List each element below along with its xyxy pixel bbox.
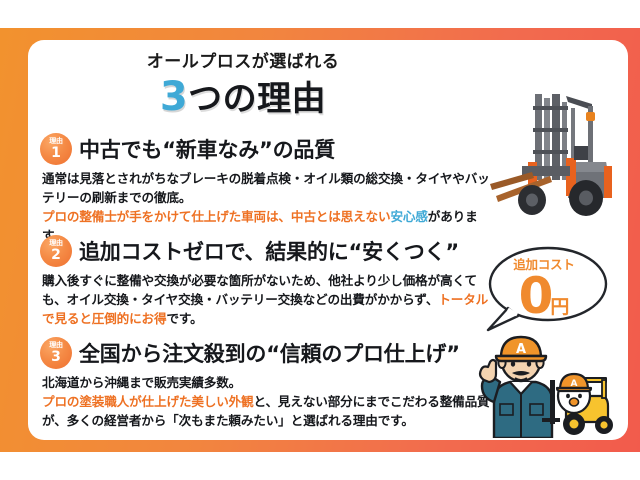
reason-1-body-seg-0: 通常は見落とされがちなブレーキの脱着点検・オイル類の総交換・タイヤやバッテリーの… <box>42 171 490 205</box>
reason-2-title: 追加コストゼロで、結果的に“安くつく” <box>79 236 459 266</box>
badge-number: 3 <box>51 350 61 364</box>
reason-1-header: 理由 1 中古でも“新車なみ”の品質 <box>40 132 490 166</box>
headline-number: 3 <box>160 74 188 120</box>
mechanic-and-forklift-mascot: A A <box>474 326 624 438</box>
reason-3-body: 北海道から沖縄まで販売実績多数。 プロの塗装職人が仕上げた美しい外観と、見えない… <box>42 373 490 430</box>
reason-3-title: 全国から注文殺到の“信頼のプロ仕上げ” <box>79 338 460 368</box>
bubble-shape <box>484 242 618 336</box>
reason-2-body-seg-0: 購入後すぐに整備や交換が必要な箇所がないため、他社より少し価格が高くても、オイル… <box>42 273 477 307</box>
reason-3-badge: 理由 3 <box>40 337 72 369</box>
reason-1-body-seg-1: プロの整備士が手をかけて仕上げた車両は、 <box>42 209 291 224</box>
badge-label: 理由 <box>49 138 62 145</box>
callout-bubble: 追加コスト 0円 <box>484 242 618 336</box>
mascot-helmet-letter-a: A <box>571 379 578 389</box>
reason-2-badge: 理由 2 <box>40 235 72 267</box>
reason-1-body-seg-2: 中古とは思えない <box>291 209 391 224</box>
reason-1-title: 中古でも“新車なみ”の品質 <box>79 134 335 164</box>
reason-block-2: 理由 2 追加コストゼロで、結果的に“安くつく” 購入後すぐに整備や交換が必要な… <box>40 234 490 328</box>
helmet-letter-a: A <box>516 342 526 357</box>
reason-2-header: 理由 2 追加コストゼロで、結果的に“安くつく” <box>40 234 490 268</box>
reason-1-badge: 理由 1 <box>40 133 72 165</box>
white-content-card: オールプロスが選ばれる 3つの理由 理由 1 中古でも“新車なみ”の品質 通常は… <box>28 40 628 440</box>
reason-2-body: 購入後すぐに整備や交換が必要な箇所がないため、他社より少し価格が高くても、オイル… <box>42 271 490 328</box>
reason-1-body-seg-3: 安心感 <box>390 209 427 224</box>
reason-2-body-seg-2: です。 <box>166 311 202 326</box>
headline-main: 3つの理由 <box>28 76 458 118</box>
reason-3-body-seg-1: プロの塗装職人が仕上げた美しい外観 <box>42 394 254 409</box>
headline-suffix: つの理由 <box>188 79 326 119</box>
badge-label: 理由 <box>49 240 62 247</box>
reason-3-header: 理由 3 全国から注文殺到の“信頼のプロ仕上げ” <box>40 336 490 370</box>
reason-block-1: 理由 1 中古でも“新車なみ”の品質 通常は見落とされがちなブレーキの脱着点検・… <box>40 132 490 246</box>
headline-kicker: オールプロスが選ばれる <box>28 52 458 72</box>
reason-3-body-seg-0: 北海道から沖縄まで販売実績多数。 <box>42 375 241 390</box>
badge-label: 理由 <box>49 342 62 349</box>
promotional-poster: オールプロスが選ばれる 3つの理由 理由 1 中古でも“新車なみ”の品質 通常は… <box>0 0 640 480</box>
forklift-photo <box>488 88 620 228</box>
page-title: オールプロスが選ばれる 3つの理由 <box>28 52 458 118</box>
reason-block-3: 理由 3 全国から注文殺到の“信頼のプロ仕上げ” 北海道から沖縄まで販売実績多数… <box>40 336 490 430</box>
badge-number: 1 <box>51 146 61 160</box>
badge-number: 2 <box>51 248 61 262</box>
